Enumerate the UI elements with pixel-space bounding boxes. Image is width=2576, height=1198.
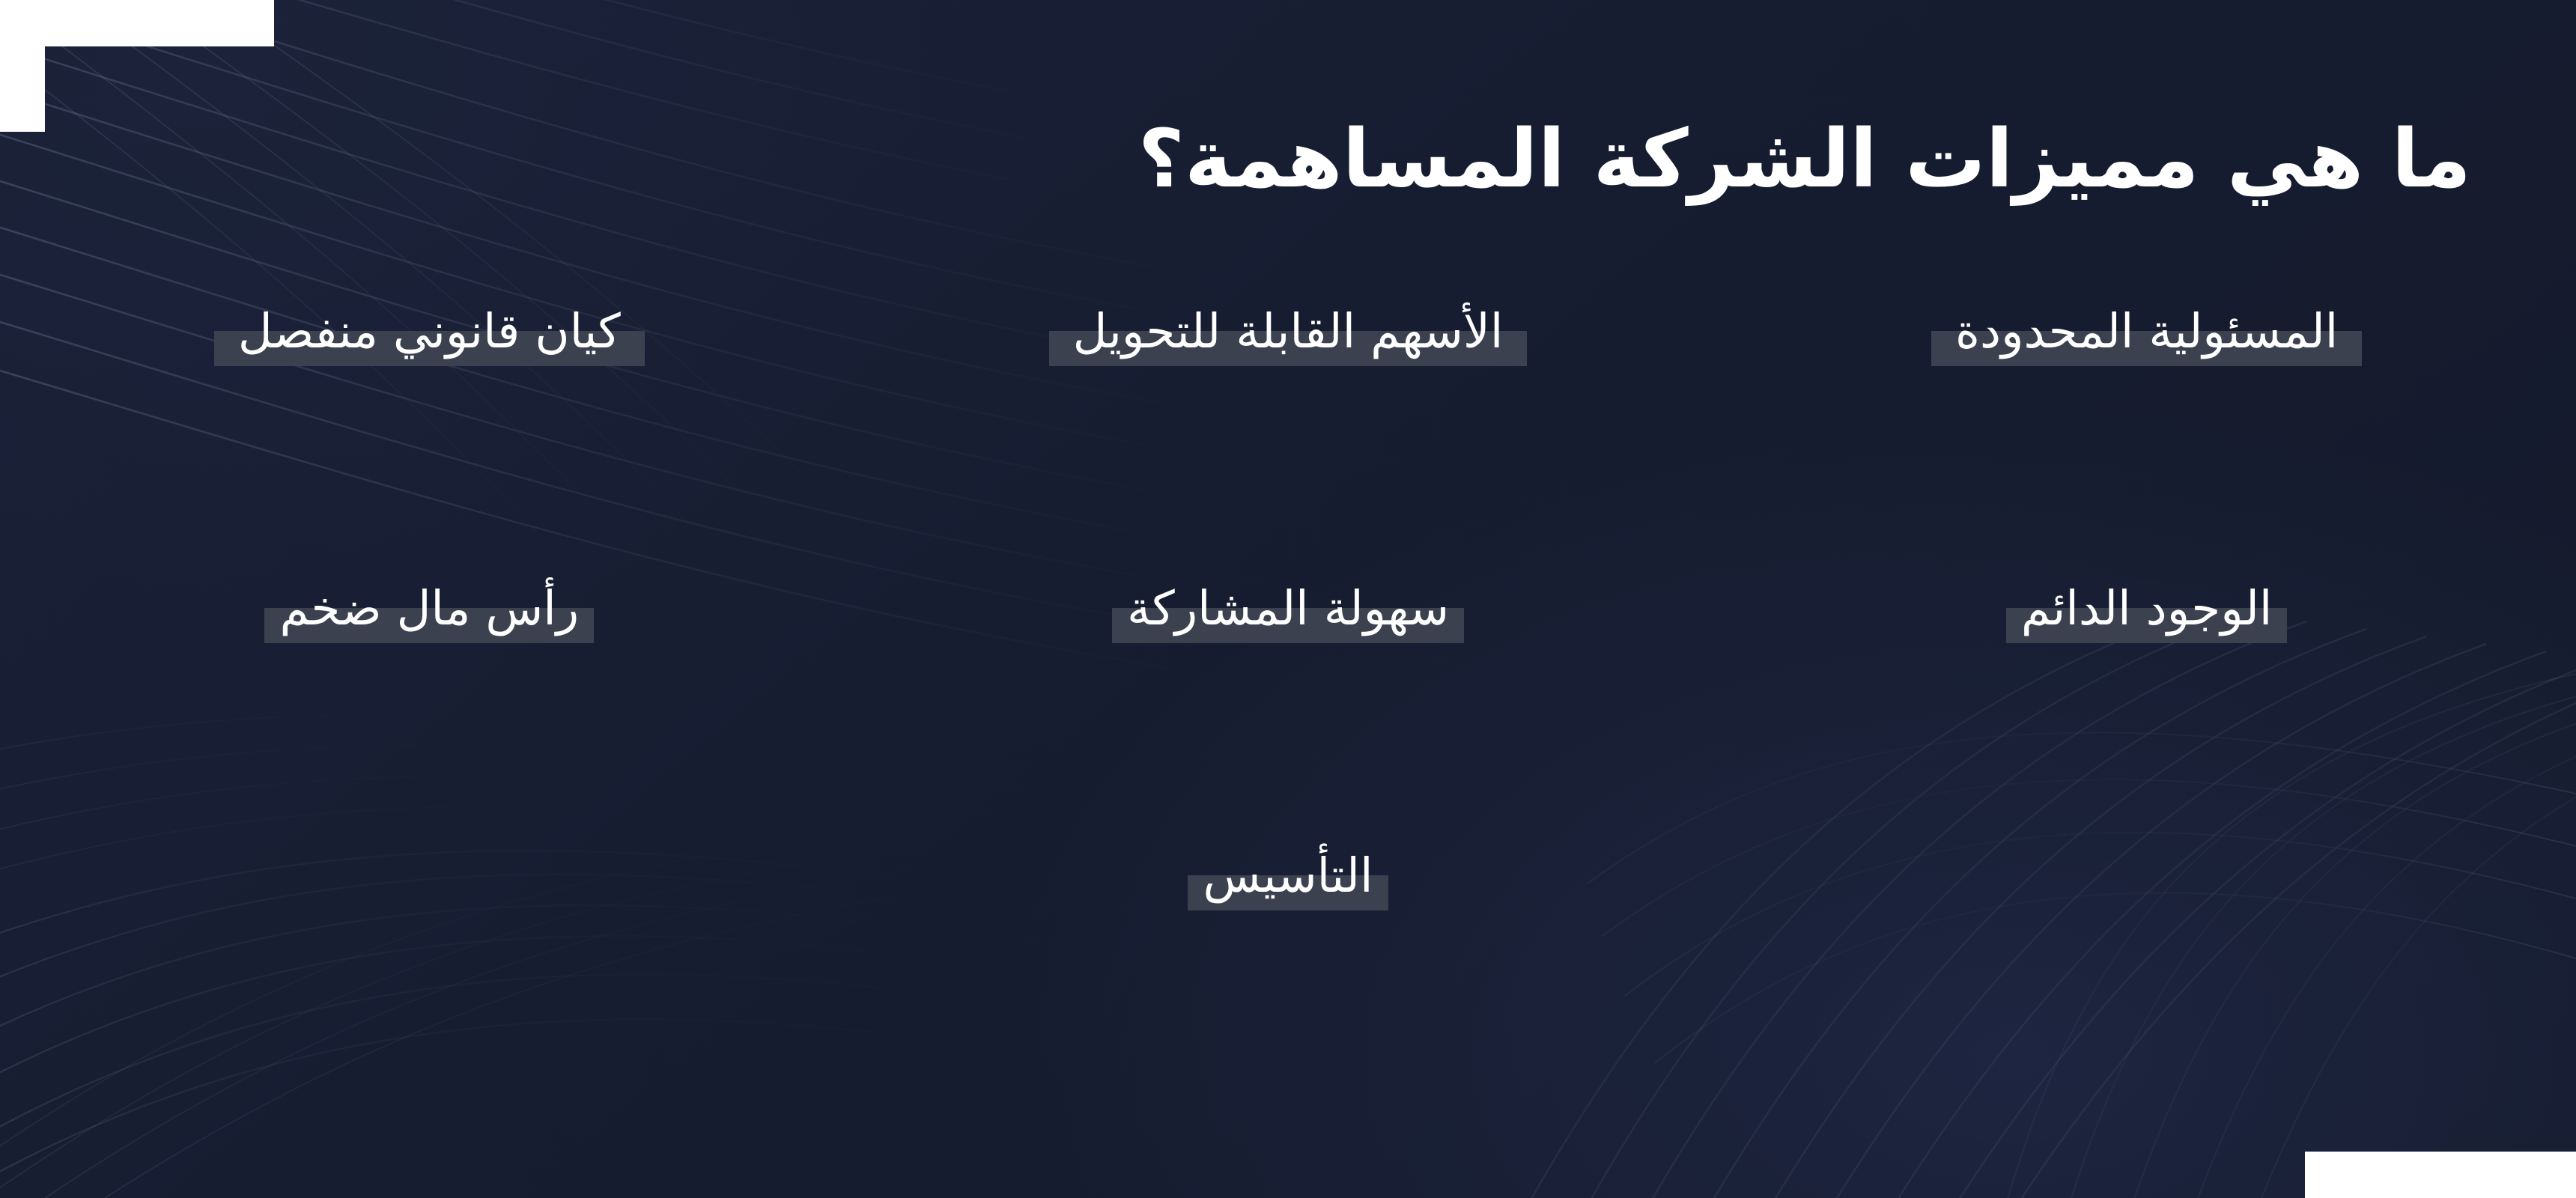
- features-grid: المسئولية المحدودة الأسهم القابلة للتحوي…: [0, 299, 2576, 1048]
- feature-cell: كيان قانوني منفصل: [0, 299, 859, 363]
- features-row-2: الوجود الدائم سهولة المشاركة رأس مال ضخم: [0, 577, 2576, 640]
- feature-item-separate-legal-entity: كيان قانوني منفصل: [228, 299, 631, 363]
- feature-item-incorporation: التأسيس: [1192, 844, 1383, 907]
- features-row-1: المسئولية المحدودة الأسهم القابلة للتحوي…: [0, 299, 2576, 363]
- feature-item-perpetual-existence: الوجود الدائم: [2011, 577, 2283, 640]
- features-row-3: التأسيس: [0, 844, 2576, 907]
- corner-block-top-left-narrow: [0, 0, 45, 132]
- corner-block-bottom-right: [2305, 1152, 2576, 1198]
- feature-cell: الوجود الدائم: [1717, 577, 2576, 640]
- feature-cell: التأسيس: [1192, 844, 1383, 907]
- feature-item-large-capital: رأس مال ضخم: [269, 577, 589, 640]
- feature-item-limited-liability: المسئولية المحدودة: [1945, 299, 2348, 363]
- feature-item-transferable-shares: الأسهم القابلة للتحويل: [1063, 299, 1514, 363]
- feature-item-ease-of-participation: سهولة المشاركة: [1117, 577, 1459, 640]
- feature-cell: رأس مال ضخم: [0, 577, 859, 640]
- feature-cell: المسئولية المحدودة: [1717, 299, 2576, 363]
- feature-cell: الأسهم القابلة للتحويل: [859, 299, 1718, 363]
- feature-cell: سهولة المشاركة: [859, 577, 1718, 640]
- slide-title: ما هي مميزات الشركة المساهمة؟: [105, 112, 2471, 207]
- presentation-slide: ما هي مميزات الشركة المساهمة؟ المسئولية …: [0, 0, 2576, 1198]
